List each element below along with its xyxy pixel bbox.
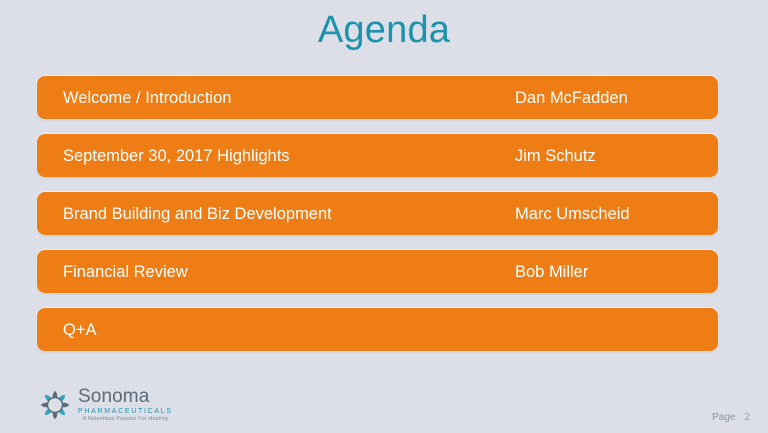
page-label: Page (712, 411, 735, 424)
page-title: Agenda (0, 8, 768, 52)
agenda-topic: September 30, 2017 Highlights (63, 146, 290, 166)
agenda-row[interactable]: Financial Review Bob Miller (37, 250, 718, 293)
agenda-row[interactable]: Brand Building and Biz Development Marc … (37, 192, 718, 235)
agenda-topic: Welcome / Introduction (63, 88, 231, 108)
agenda-owner: Bob Miller (515, 262, 588, 282)
agenda-row[interactable]: September 30, 2017 Highlights Jim Schutz (37, 134, 718, 177)
sonoma-flower-icon (38, 388, 72, 422)
agenda-owner: Marc Umscheid (515, 204, 630, 224)
page-number: 2 (744, 411, 750, 424)
company-logo: Sonoma PHARMACEUTICALS A Relentless Pass… (38, 386, 173, 423)
agenda-topic: Financial Review (63, 262, 188, 282)
agenda-list: Welcome / Introduction Dan McFadden Sept… (37, 76, 718, 351)
agenda-topic: Brand Building and Biz Development (63, 204, 332, 224)
logo-wordmark: Sonoma PHARMACEUTICALS A Relentless Pass… (78, 386, 173, 423)
logo-tagline: A Relentless Passion For Healing (78, 416, 173, 423)
page-indicator: Page 2 (712, 411, 750, 424)
agenda-owner: Jim Schutz (515, 146, 596, 166)
logo-company-name: Sonoma (78, 387, 173, 406)
logo-subtitle: PHARMACEUTICALS (78, 407, 173, 416)
agenda-slide: Agenda Welcome / Introduction Dan McFadd… (0, 0, 768, 433)
agenda-topic: Q+A (63, 320, 96, 340)
agenda-row[interactable]: Q+A (37, 308, 718, 351)
agenda-owner: Dan McFadden (515, 88, 628, 108)
agenda-row[interactable]: Welcome / Introduction Dan McFadden (37, 76, 718, 119)
